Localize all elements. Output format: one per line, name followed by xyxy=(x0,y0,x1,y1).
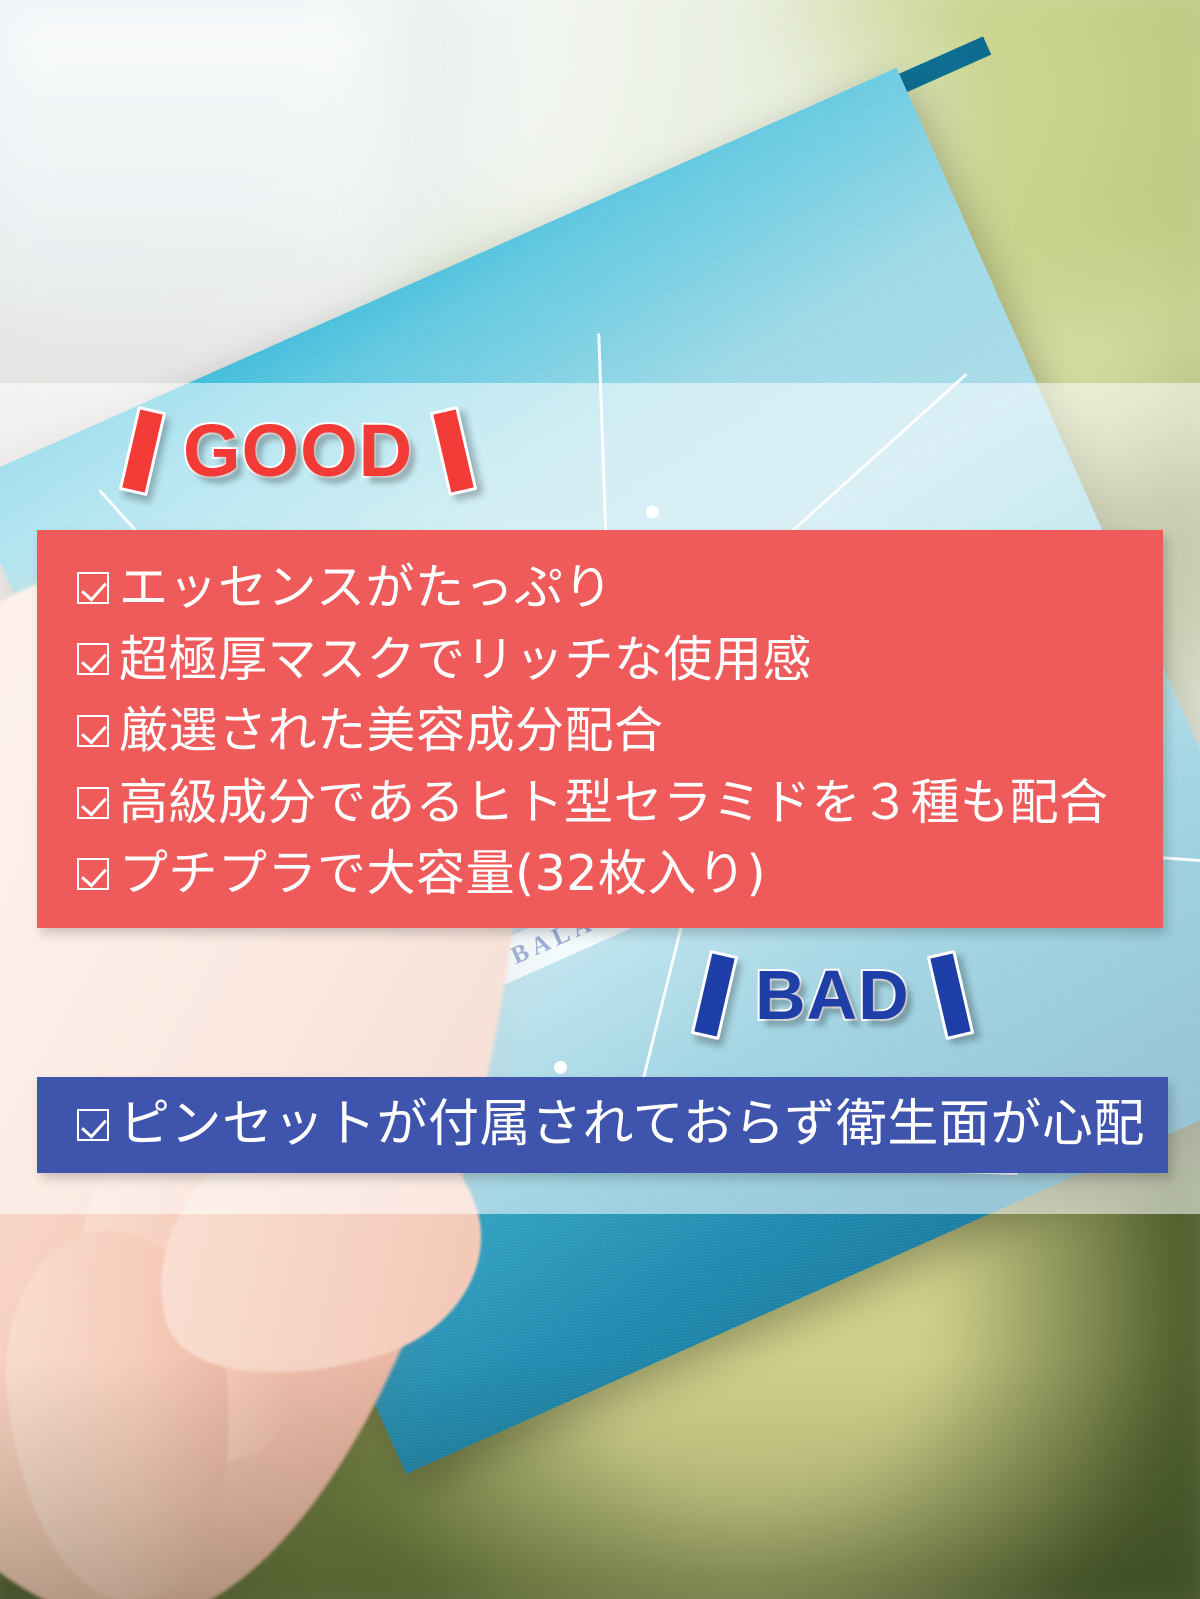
good-item-text: プチプラで大容量(32枚入り) xyxy=(119,839,766,909)
checkbox-checked-icon xyxy=(77,1109,109,1141)
good-item-text: エッセンスがたっぷり xyxy=(119,553,613,623)
bad-heading-label: BAD xyxy=(755,962,910,1029)
good-list-item-4: 高級成分であるヒト型セラミドを３種も配合 xyxy=(77,768,1163,838)
checkbox-checked-icon xyxy=(77,572,109,604)
good-list-item-1: エッセンスがたっぷり xyxy=(77,553,1163,623)
infographic-canvas: HiJun rious BALANCE GOOD エッセンスがたっぷり xyxy=(0,0,1200,1599)
good-heading-label: GOOD xyxy=(183,416,413,486)
bad-right-slash-icon xyxy=(926,950,974,1040)
bad-panel: ピンセットが付属されておらず衛生面が心配 xyxy=(37,1077,1168,1173)
good-heading: GOOD xyxy=(128,408,468,494)
good-panel: エッセンスがたっぷり 超極厚マスクでリッチな使用感 厳選された美容成分配合 高級… xyxy=(37,530,1163,928)
good-right-slash-icon xyxy=(430,406,478,496)
checkbox-checked-icon xyxy=(77,643,109,675)
bad-left-slash-icon xyxy=(691,950,739,1040)
checkbox-checked-icon xyxy=(77,787,109,819)
bad-item-text: ピンセットが付属されておらず衛生面が心配 xyxy=(119,1097,1145,1153)
bad-list-item-1: ピンセットが付属されておらず衛生面が心配 xyxy=(77,1097,1168,1153)
bad-heading: BAD xyxy=(700,952,965,1038)
good-item-text: 超極厚マスクでリッチな使用感 xyxy=(119,625,812,695)
checkbox-checked-icon xyxy=(77,858,109,890)
good-left-slash-icon xyxy=(119,406,167,496)
good-item-text: 高級成分であるヒト型セラミドを３種も配合 xyxy=(119,768,1109,838)
good-item-text: 厳選された美容成分配合 xyxy=(119,696,664,766)
good-list-item-5: プチプラで大容量(32枚入り) xyxy=(77,839,1163,909)
good-list-item-2: 超極厚マスクでリッチな使用感 xyxy=(77,625,1163,695)
checkbox-checked-icon xyxy=(77,715,109,747)
good-list-item-3: 厳選された美容成分配合 xyxy=(77,696,1163,766)
